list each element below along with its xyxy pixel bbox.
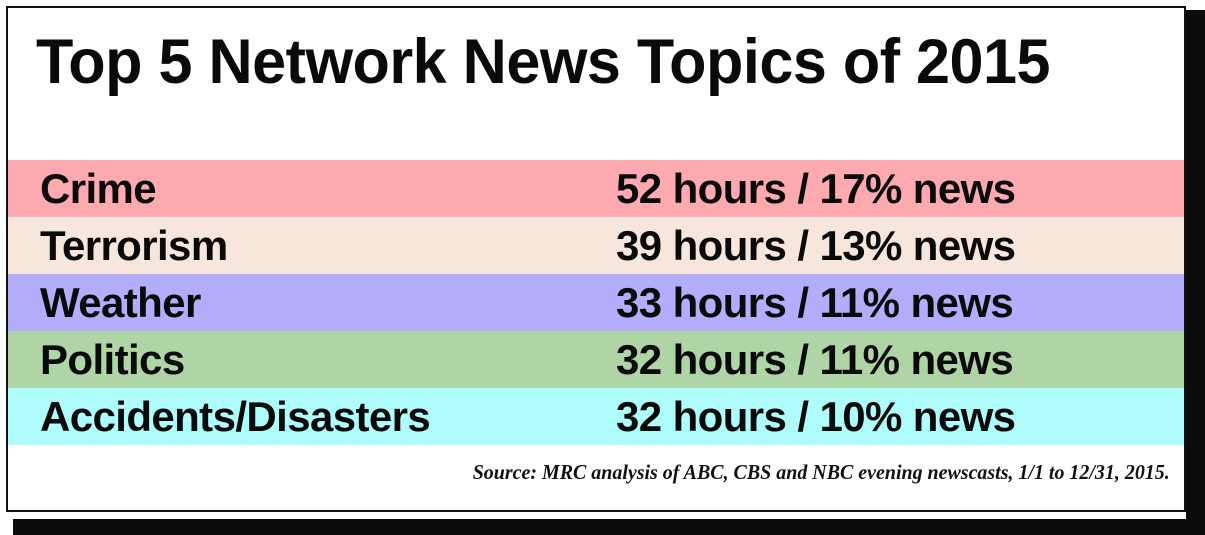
topics-table: Crime 52 hours / 17% news Terrorism 39 h… bbox=[8, 160, 1184, 445]
table-row: Politics 32 hours / 11% news bbox=[8, 331, 1184, 388]
topic-label: Crime bbox=[8, 167, 616, 211]
source-note: Source: MRC analysis of ABC, CBS and NBC… bbox=[473, 460, 1170, 484]
table-row: Accidents/Disasters 32 hours / 10% news bbox=[8, 388, 1184, 445]
frame-shadow-bottom bbox=[13, 519, 1205, 535]
source-block: Source: MRC analysis of ABC, CBS and NBC… bbox=[8, 445, 1184, 499]
topic-stat: 33 hours / 11% news bbox=[616, 281, 1184, 325]
table-row: Weather 33 hours / 11% news bbox=[8, 274, 1184, 331]
topic-label: Weather bbox=[8, 281, 616, 325]
infographic-card: Top 5 Network News Topics of 2015 Crime … bbox=[6, 6, 1186, 512]
frame-shadow-right bbox=[1186, 10, 1205, 535]
title-block: Top 5 Network News Topics of 2015 bbox=[8, 8, 1184, 160]
topic-label: Accidents/Disasters bbox=[8, 395, 616, 439]
topic-stat: 39 hours / 13% news bbox=[616, 224, 1184, 268]
infographic-frame: Top 5 Network News Topics of 2015 Crime … bbox=[0, 0, 1205, 535]
table-row: Terrorism 39 hours / 13% news bbox=[8, 217, 1184, 274]
topic-stat: 52 hours / 17% news bbox=[616, 167, 1184, 211]
page-title: Top 5 Network News Topics of 2015 bbox=[36, 26, 1150, 98]
topic-stat: 32 hours / 11% news bbox=[616, 338, 1184, 382]
topic-label: Politics bbox=[8, 338, 616, 382]
topic-label: Terrorism bbox=[8, 224, 616, 268]
topic-stat: 32 hours / 10% news bbox=[616, 395, 1184, 439]
table-row: Crime 52 hours / 17% news bbox=[8, 160, 1184, 217]
